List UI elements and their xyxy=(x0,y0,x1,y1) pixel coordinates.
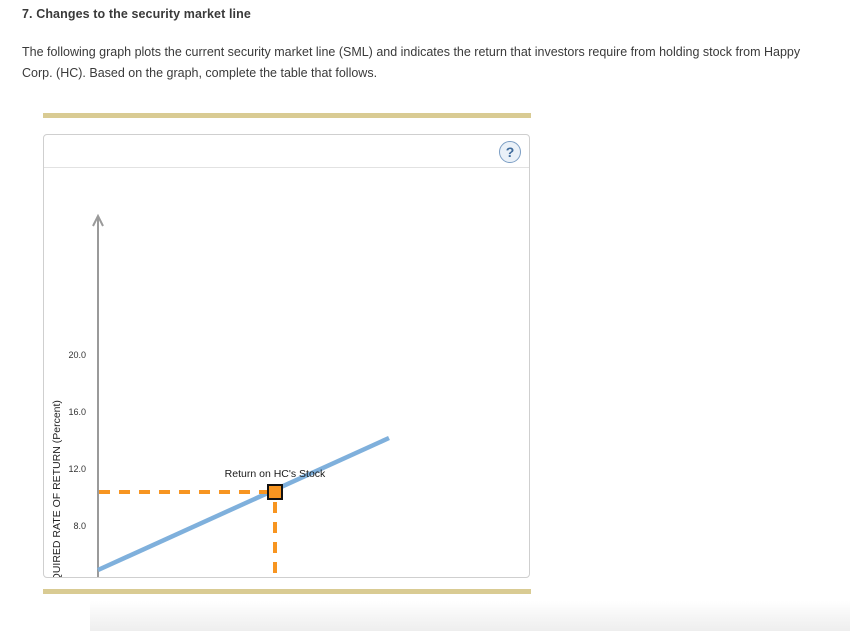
graph-panel: ? 0 4.0 8.0 12.0 16.0 20.0 0 0.5 1.0 1.5… xyxy=(43,134,530,578)
sml-line xyxy=(98,438,389,570)
panel-header: ? xyxy=(44,135,529,168)
y-tick-label-12: 12.0 xyxy=(68,464,86,474)
question-body-text: The following graph plots the current se… xyxy=(22,42,834,84)
divider-rule-bottom xyxy=(43,589,531,594)
y-tick-label-8: 8.0 xyxy=(73,521,86,531)
hc-stock-label: Return on HC's Stock xyxy=(225,468,326,480)
page-title: 7. Changes to the security market line xyxy=(22,7,251,21)
y-tick-label-16: 16.0 xyxy=(68,407,86,417)
divider-rule-top xyxy=(43,113,531,118)
y-tick-label-20: 20.0 xyxy=(68,350,86,360)
page-bottom-gradient xyxy=(90,601,850,631)
sml-chart: 0 4.0 8.0 12.0 16.0 20.0 0 0.5 1.0 1.5 2… xyxy=(44,168,529,577)
question-mark-icon[interactable]: ? xyxy=(499,141,521,163)
hc-stock-marker[interactable] xyxy=(268,485,282,499)
y-axis-title: REQUIRED RATE OF RETURN (Percent) xyxy=(51,400,63,577)
